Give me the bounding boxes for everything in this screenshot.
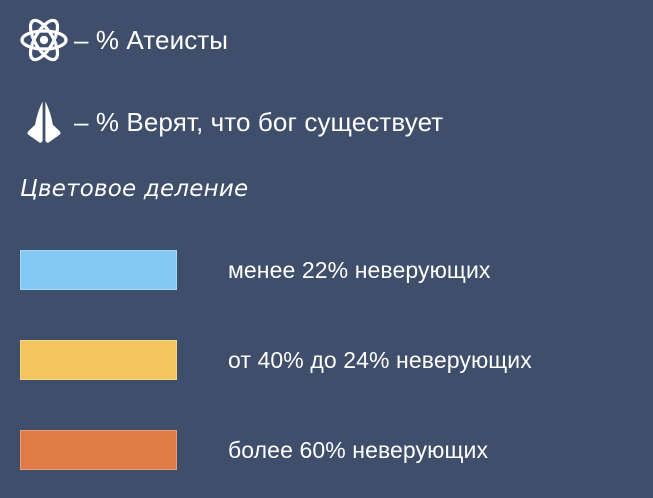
legend-scale-item: от 40% до 24% неверующих [0, 338, 653, 382]
legend-symbol-label-atheists: – % Атеисты [74, 26, 228, 55]
legend-scale-item: менее 22% неверующих [0, 248, 653, 292]
color-swatch-low [20, 250, 177, 290]
praying-hands-icon [18, 96, 70, 148]
legend-symbol-label-believers: – % Верят, что бог существует [74, 108, 443, 137]
map-legend-panel: – % Атеисты – % Верят, что бог существуе… [0, 0, 653, 498]
color-swatch-label-mid: от 40% до 24% неверующих [228, 338, 532, 382]
color-swatch-high [20, 430, 177, 470]
legend-symbol-row-believers: – % Верят, что бог существует [18, 96, 443, 148]
color-swatch-label-high: более 60% неверующих [228, 428, 488, 472]
legend-symbol-row-atheists: – % Атеисты [18, 14, 228, 66]
color-swatch-mid [20, 340, 177, 380]
color-swatch-label-low: менее 22% неверующих [228, 248, 491, 292]
atom-icon [18, 14, 70, 66]
legend-scale-item: более 60% неверующих [0, 428, 653, 472]
color-scale-heading: Цветовое деление [20, 176, 248, 202]
